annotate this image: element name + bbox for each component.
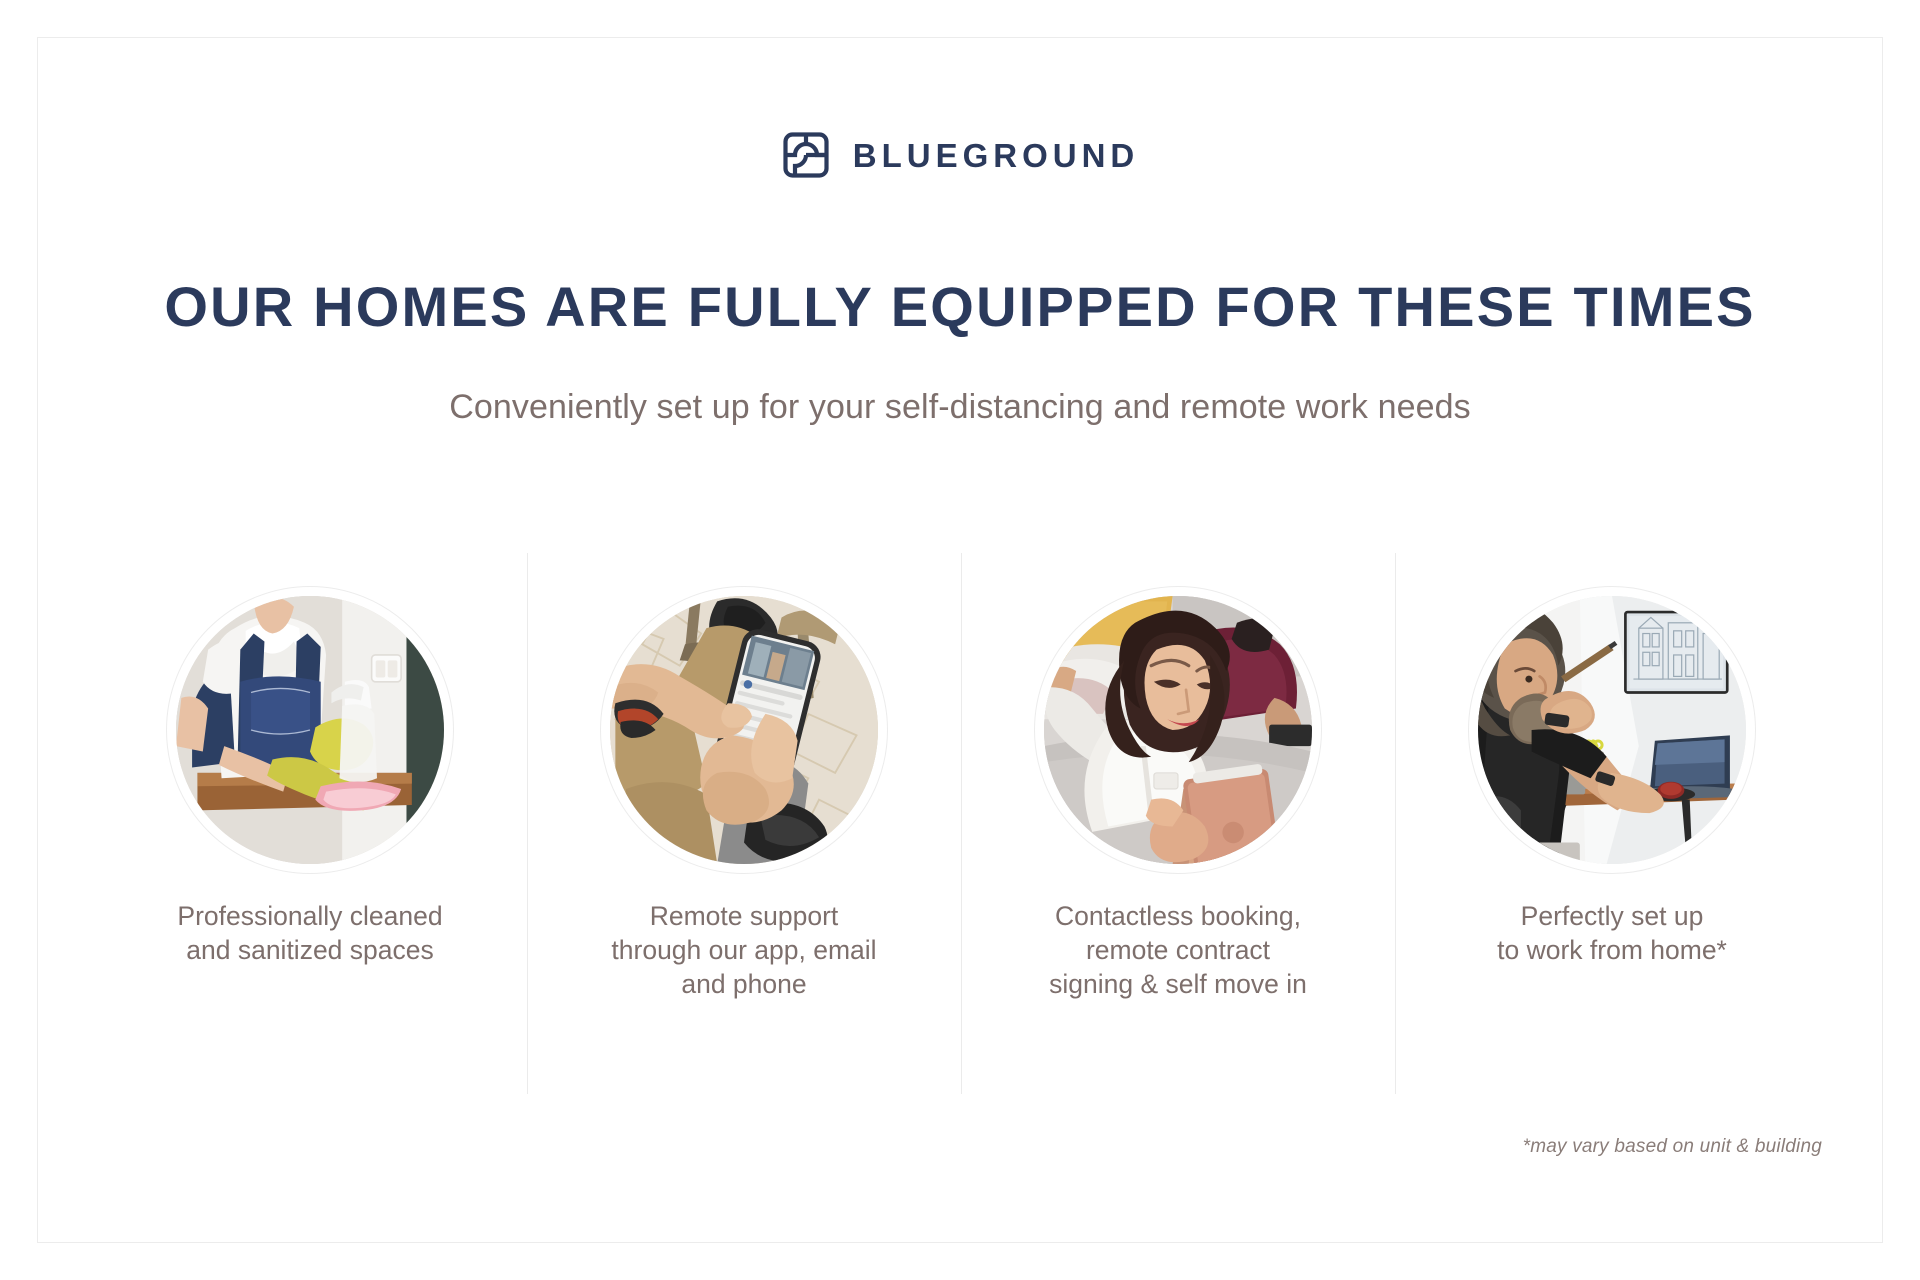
photo-woman-tablet-on-bed <box>1044 596 1312 864</box>
photo-cleaner-sanitizing-counter <box>176 596 444 864</box>
photo-man-working-from-home-desk <box>1478 596 1746 864</box>
feature-caption: Remote supportthrough our app, emailand … <box>611 900 876 1002</box>
feature-column-remote-support: Remote supportthrough our app, emailand … <box>527 516 961 1094</box>
brand-lockup: BLUEGROUND <box>38 130 1882 180</box>
page-title: OUR HOMES ARE FULLY EQUIPPED FOR THESE T… <box>38 278 1882 337</box>
photo-hands-using-phone-app <box>610 596 878 864</box>
feature-image-frame <box>1468 586 1756 874</box>
footnote-disclaimer: *may vary based on unit & building <box>1523 1136 1822 1158</box>
feature-column-cleaning: Professionally cleanedand sanitized spac… <box>93 516 527 1094</box>
feature-image-frame <box>166 586 454 874</box>
feature-image-frame <box>600 586 888 874</box>
feature-caption: Perfectly set upto work from home* <box>1497 900 1727 968</box>
poster-frame: BLUEGROUND OUR HOMES ARE FULLY EQUIPPED … <box>37 37 1883 1243</box>
feature-caption: Contactless booking,remote contractsigni… <box>1049 900 1307 1002</box>
feature-column-contactless-booking: Contactless booking,remote contractsigni… <box>961 516 1395 1094</box>
feature-column-work-from-home: Perfectly set upto work from home* <box>1395 516 1829 1094</box>
feature-image-frame <box>1034 586 1322 874</box>
page-subtitle: Conveniently set up for your self-distan… <box>38 388 1882 427</box>
blueground-logo-icon <box>781 130 831 180</box>
feature-columns: Professionally cleanedand sanitized spac… <box>93 516 1829 1094</box>
brand-wordmark: BLUEGROUND <box>853 139 1140 172</box>
feature-caption: Professionally cleanedand sanitized spac… <box>177 900 442 968</box>
